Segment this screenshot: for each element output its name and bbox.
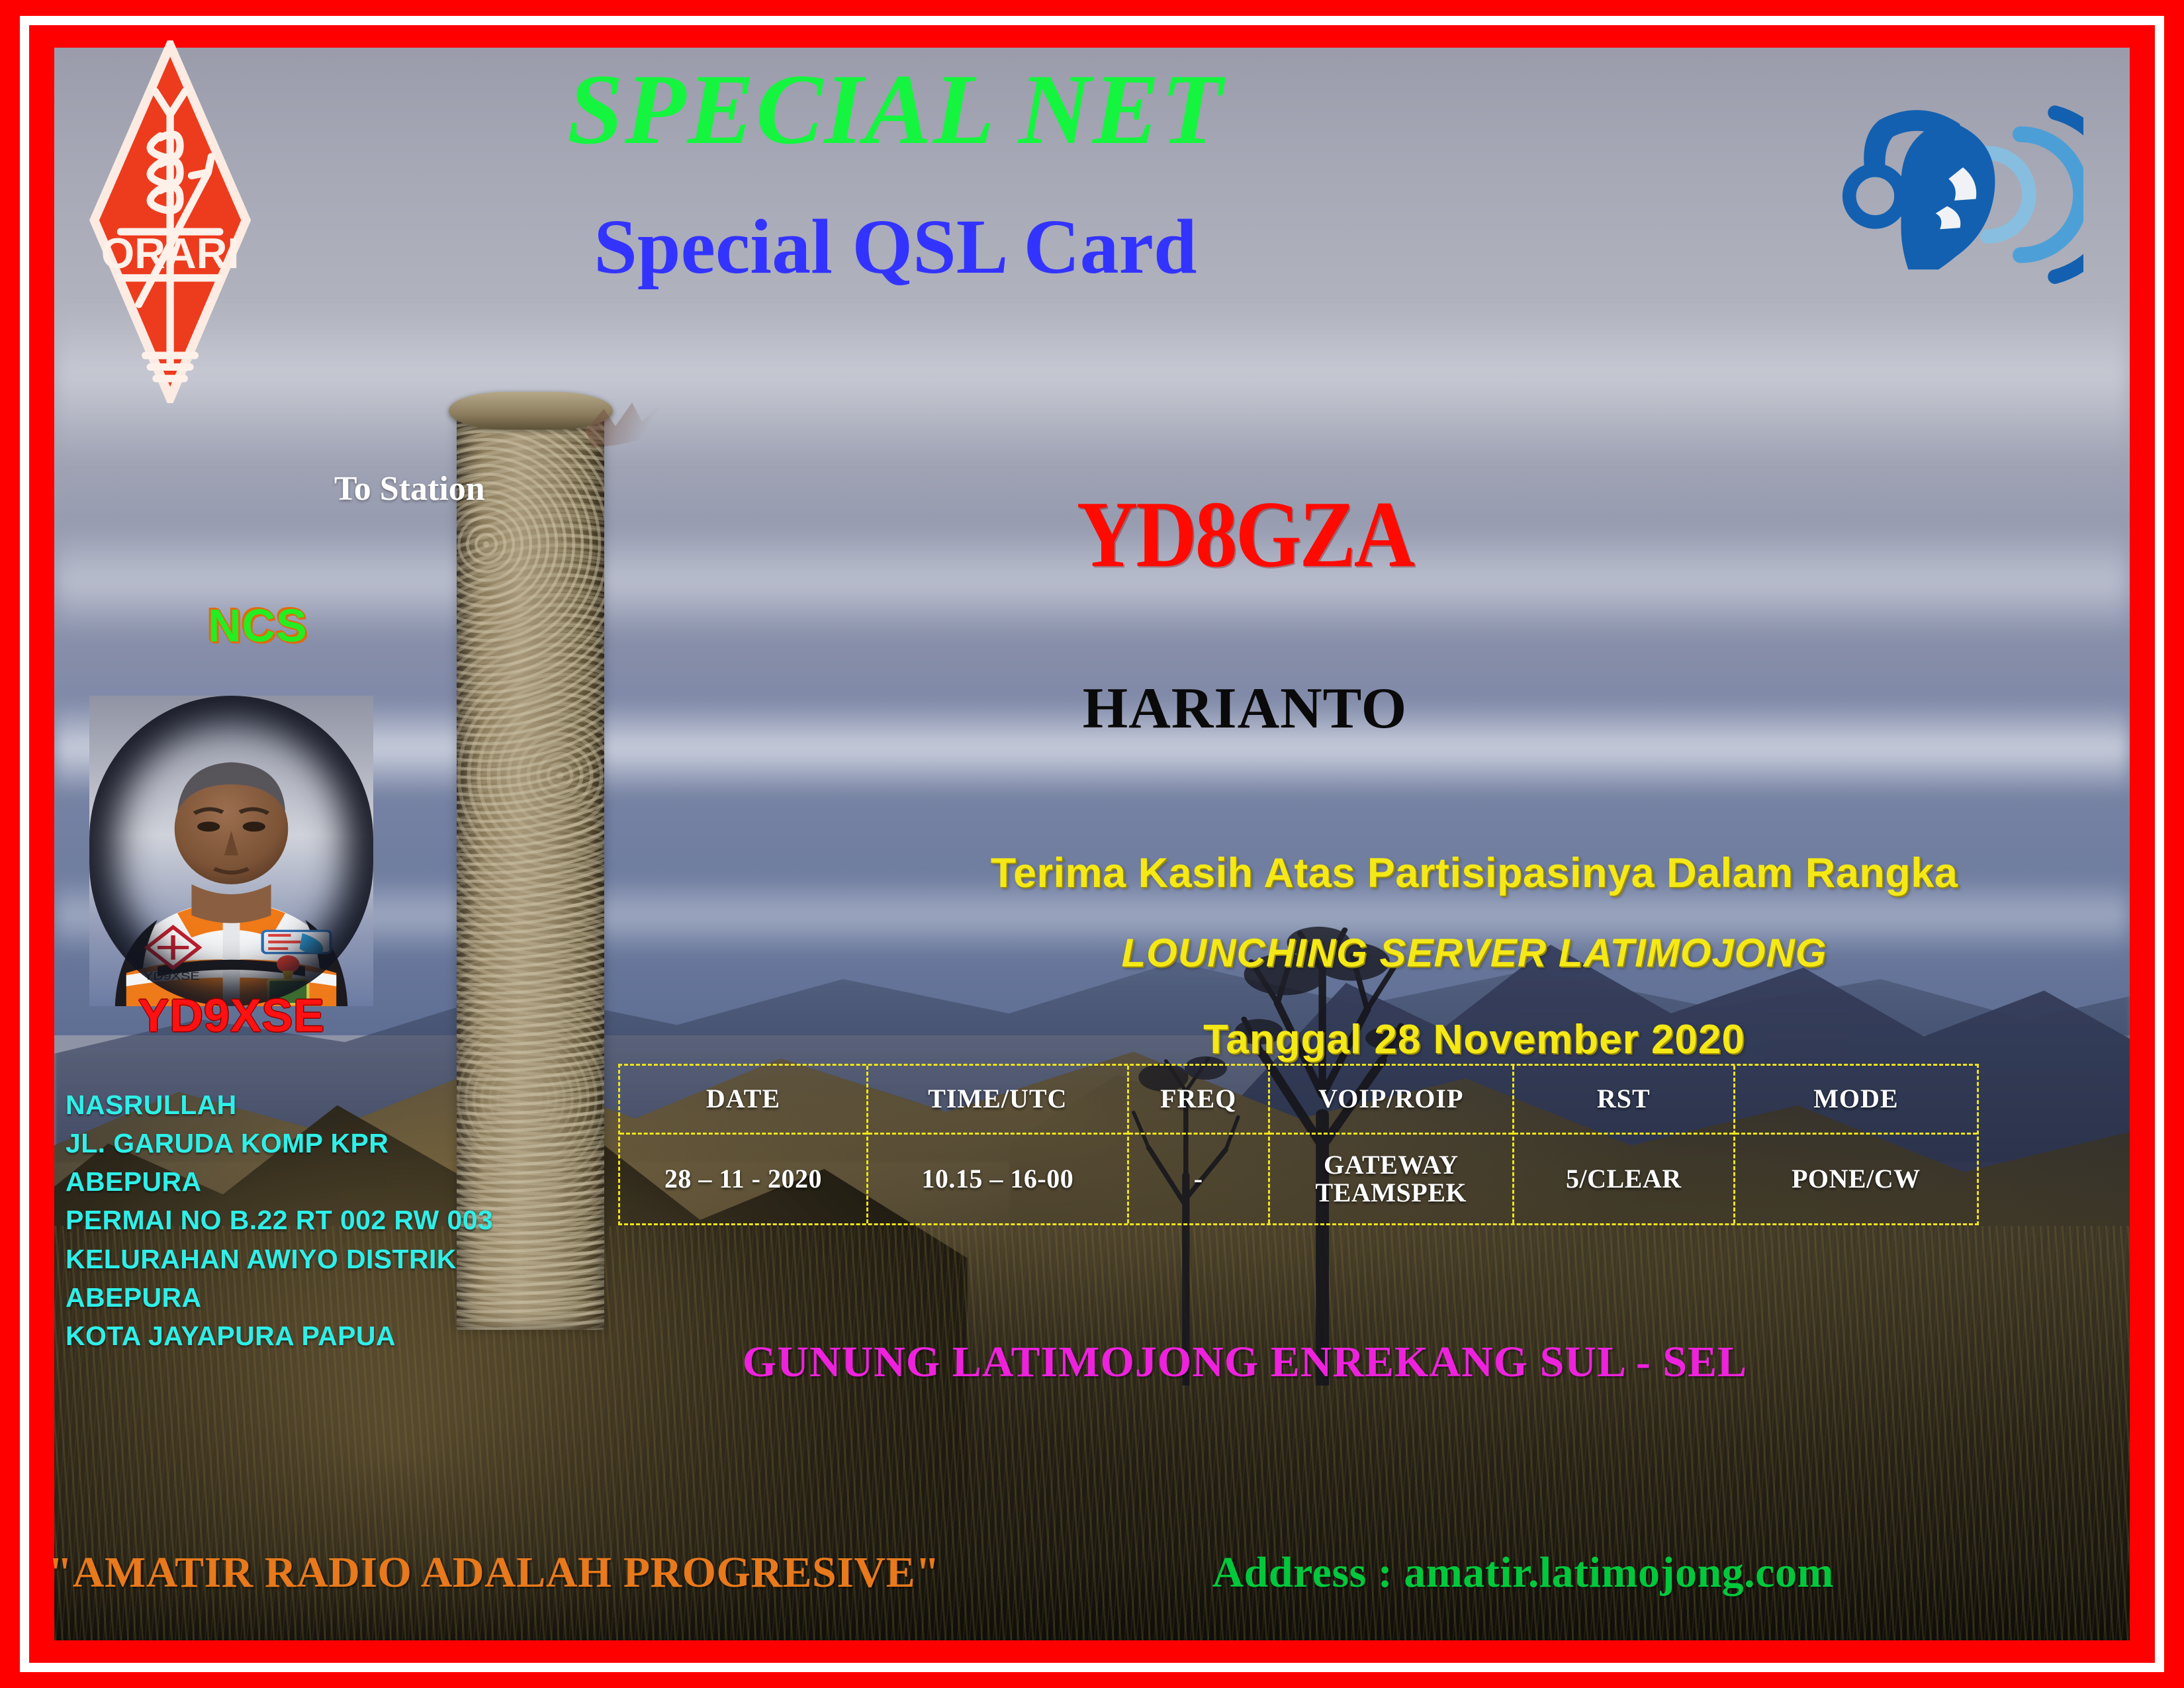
ncs-portrait-photo: YD9XSE: [89, 696, 373, 1006]
event-thanks-line: Terima Kasih Atas Partisipasinya Dalam R…: [797, 849, 2152, 897]
location-caption: GUNUNG LATIMOJONG ENREKANG SUL - SEL: [568, 1337, 1922, 1387]
operator-name: HARIANTO: [852, 675, 1638, 742]
to-station-label: To Station: [334, 469, 485, 508]
table-column-date: DATE 28 – 11 - 2020: [620, 1066, 868, 1224]
event-date-line: Tanggal 28 November 2020: [797, 1016, 2152, 1063]
table-column-rst: RST 5/CLEAR: [1514, 1066, 1735, 1224]
table-data-cell: 10.15 – 16-00: [868, 1135, 1127, 1223]
table-data-cell: 5/CLEAR: [1514, 1135, 1733, 1223]
footer-web-address: Address : amatir.latimojong.com: [1212, 1548, 1834, 1598]
table-header-cell: TIME/UTC: [868, 1066, 1127, 1135]
portrait-vignette: [89, 696, 373, 1006]
qso-details-table: DATE 28 – 11 - 2020 TIME/UTC 10.15 – 16-…: [618, 1064, 1979, 1226]
table-column-voip-roip: VOIP/ROIP GATEWAY TEAMSPEK: [1270, 1066, 1514, 1224]
table-header-cell: RST: [1514, 1066, 1733, 1135]
table-header-cell: DATE: [620, 1066, 866, 1135]
address-line: ABEPURA: [66, 1278, 721, 1317]
ncs-callsign: YD9XSE: [79, 989, 385, 1042]
table-data-cell: 28 – 11 - 2020: [620, 1135, 866, 1223]
event-title-line: LOUNCHING SERVER LATIMOJONG: [797, 930, 2152, 976]
table-data-cell: GATEWAY TEAMSPEK: [1270, 1135, 1512, 1223]
station-callsign: YD8GZA: [874, 481, 1616, 590]
table-data-cell: -: [1129, 1135, 1268, 1223]
page-title-special-net: SPECIAL NET: [208, 59, 1584, 160]
page-subtitle-special-qsl-card: Special QSL Card: [208, 208, 1584, 286]
table-header-cell: MODE: [1735, 1066, 1977, 1135]
content-layer: ORARI SPECIAL NET Special QSL Card To St: [0, 0, 2184, 1688]
table-column-mode: MODE PONE/CW: [1735, 1066, 1977, 1224]
footer-slogan: "AMATIR RADIO ADALAH PROGRESIVE": [48, 1548, 940, 1598]
table-data-cell: PONE/CW: [1735, 1135, 1977, 1223]
qsl-card: ORARI SPECIAL NET Special QSL Card To St: [0, 0, 2184, 1688]
ncs-label: NCS: [148, 599, 367, 652]
table-column-freq: FREQ -: [1129, 1066, 1270, 1224]
table-header-cell: FREQ: [1129, 1066, 1268, 1135]
table-header-cell: VOIP/ROIP: [1270, 1066, 1512, 1135]
table-column-time: TIME/UTC 10.15 – 16-00: [868, 1066, 1129, 1224]
address-line: KELURAHAN AWIYO DISTRIK: [66, 1240, 721, 1278]
broadcast-operator-logo: [1839, 47, 2084, 342]
